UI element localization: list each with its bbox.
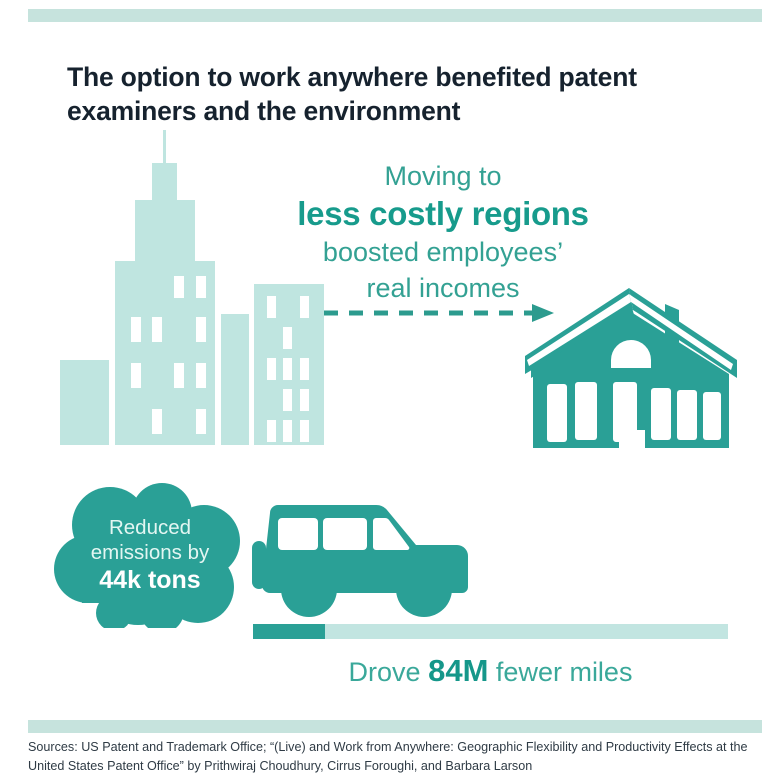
- move-line-3: boosted employees’: [323, 237, 563, 267]
- suv-icon: [252, 497, 470, 624]
- miles-prefix: Drove: [349, 657, 421, 687]
- infographic-canvas: The option to work anywhere benefited pa…: [0, 0, 772, 783]
- top-divider-rule: [28, 9, 762, 22]
- house-icon: [515, 282, 747, 455]
- miles-progress-track: [253, 624, 728, 639]
- page-title: The option to work anywhere benefited pa…: [67, 60, 707, 128]
- move-line-4: real incomes: [366, 273, 519, 303]
- miles-value: 84M: [428, 653, 488, 688]
- miles-suffix: fewer miles: [496, 657, 633, 687]
- cloud-icon: [52, 483, 248, 633]
- move-line-2-emphasis: less costly regions: [258, 194, 628, 234]
- move-line-1: Moving to: [384, 161, 501, 191]
- miles-progress-fill: [253, 624, 325, 639]
- bottom-divider-rule: [28, 720, 762, 733]
- miles-stat: Drove 84M fewer miles: [253, 653, 728, 690]
- sources-note: Sources: US Patent and Trademark Office;…: [28, 738, 754, 775]
